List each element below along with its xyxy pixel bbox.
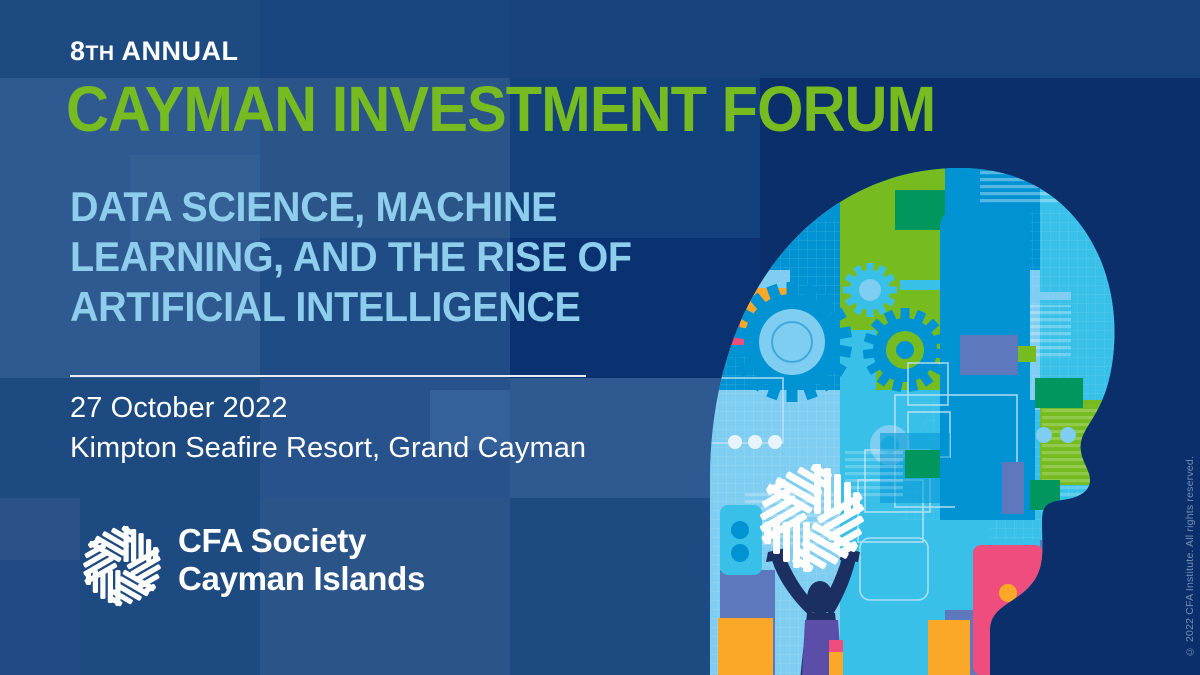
copyright-notice: © 2022 CFA Institute. All rights reserve…	[1184, 456, 1196, 657]
kicker-number: 8	[70, 36, 86, 66]
cfa-society-logo-text: CFA Society Cayman Islands	[178, 522, 425, 598]
divider-rule	[70, 375, 586, 377]
kicker-ordinal: TH	[86, 42, 115, 65]
logo-line-1: CFA Society	[178, 522, 425, 560]
subtitle-line-2: LEARNING, AND THE RISE OF	[70, 232, 632, 282]
kicker-annual: 8TH ANNUAL	[70, 36, 239, 67]
logo-line-2: Cayman Islands	[178, 560, 425, 598]
cfa-society-logo: CFA Society Cayman Islands	[70, 518, 490, 614]
page-subtitle: DATA SCIENCE, MACHINE LEARNING, AND THE …	[70, 182, 632, 332]
subtitle-line-1: DATA SCIENCE, MACHINE	[70, 182, 632, 232]
event-date: 27 October 2022	[70, 392, 288, 425]
ai-head-illustration	[690, 150, 1150, 675]
page-title: CAYMAN INVESTMENT FORUM	[66, 78, 935, 140]
event-venue: Kimpton Seafire Resort, Grand Cayman	[70, 432, 586, 465]
event-poster: 8TH ANNUAL CAYMAN INVESTMENT FORUM DATA …	[0, 0, 1200, 675]
poster-text-column: 8TH ANNUAL CAYMAN INVESTMENT FORUM DATA …	[70, 0, 730, 675]
kicker-word: ANNUAL	[115, 36, 239, 66]
subtitle-line-3: ARTIFICIAL INTELLIGENCE	[70, 282, 632, 332]
cfa-pinwheel-logo-icon	[78, 522, 166, 610]
